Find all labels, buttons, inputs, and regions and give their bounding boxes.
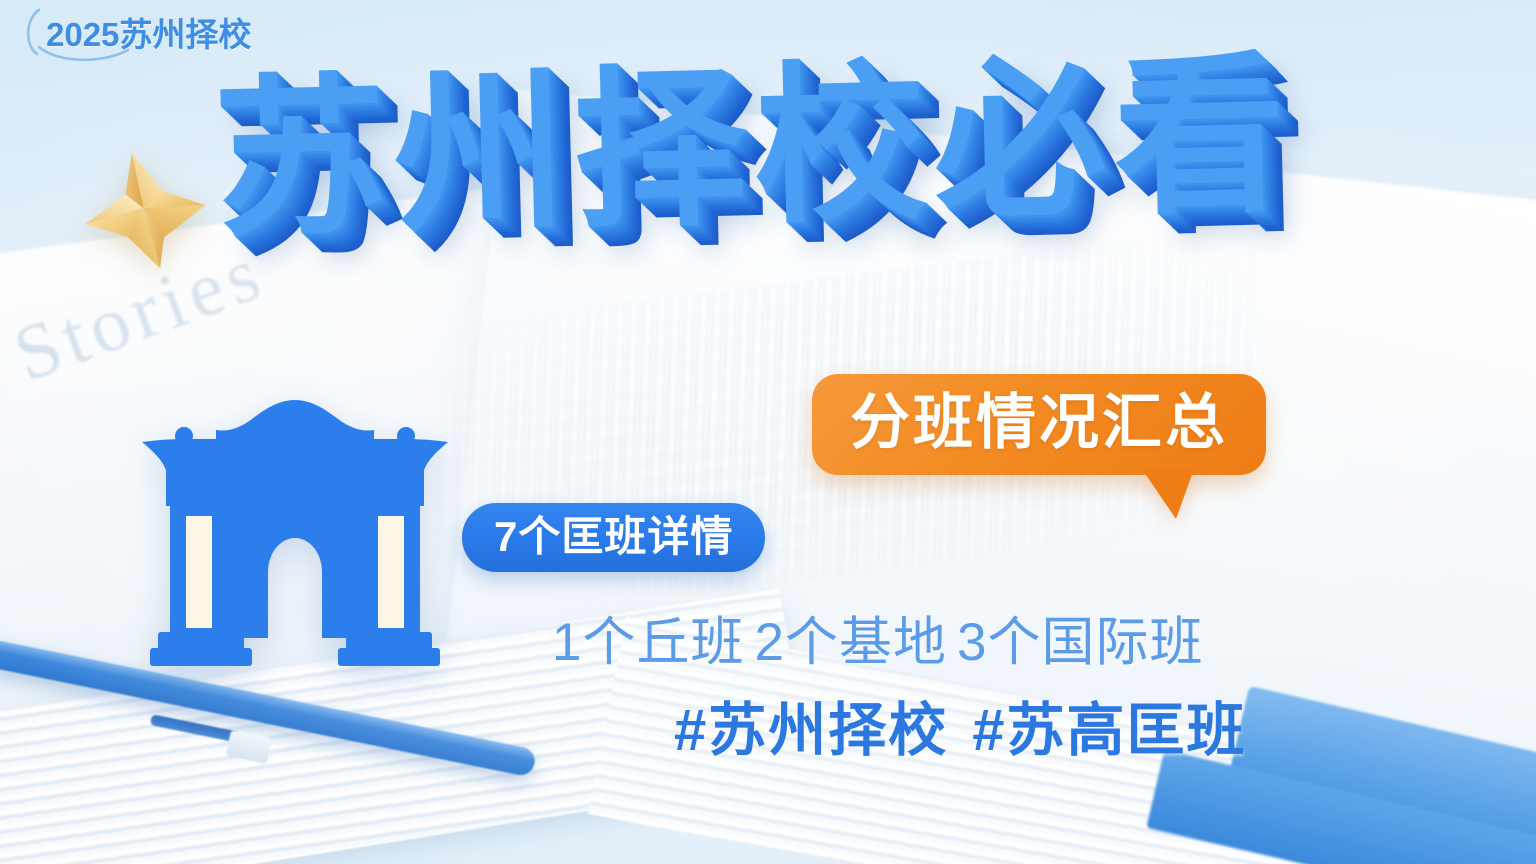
- subtitle-line: 1个丘班2个基地3个国际班: [552, 600, 1203, 676]
- hashtag-2[interactable]: #苏高匡班: [972, 698, 1246, 763]
- bubble-tail: [1142, 469, 1194, 519]
- gold-four-point-star-icon: [70, 139, 218, 282]
- pill-label: 7个匡班详情: [494, 513, 733, 560]
- subtitle-part-3: 3个国际班: [957, 613, 1203, 672]
- logo-text: 2025苏州择校: [46, 8, 251, 56]
- bubble-body: 分班情况汇总: [812, 374, 1266, 475]
- status-badge-bubble[interactable]: 分班情况汇总: [812, 374, 1266, 475]
- subtitle-part-1: 1个丘班: [552, 613, 744, 672]
- left-bracket-arc-icon: [18, 7, 44, 57]
- page-title: 苏州择校必看: [212, 49, 1296, 247]
- brand-logo: 2025苏州择校: [18, 6, 251, 58]
- chinese-gate-paifang-icon: [136, 386, 454, 668]
- hashtag-line: #苏州择校#苏高匡班: [674, 683, 1247, 767]
- subtitle-part-2: 2个基地: [754, 613, 946, 672]
- detail-pill-badge[interactable]: 7个匡班详情: [462, 503, 765, 572]
- hashtag-1[interactable]: #苏州择校: [674, 698, 948, 763]
- bubble-label: 分班情况汇总: [850, 391, 1228, 456]
- poster-root: Stories 2025苏州择校 苏州择校必看: [0, 0, 1536, 864]
